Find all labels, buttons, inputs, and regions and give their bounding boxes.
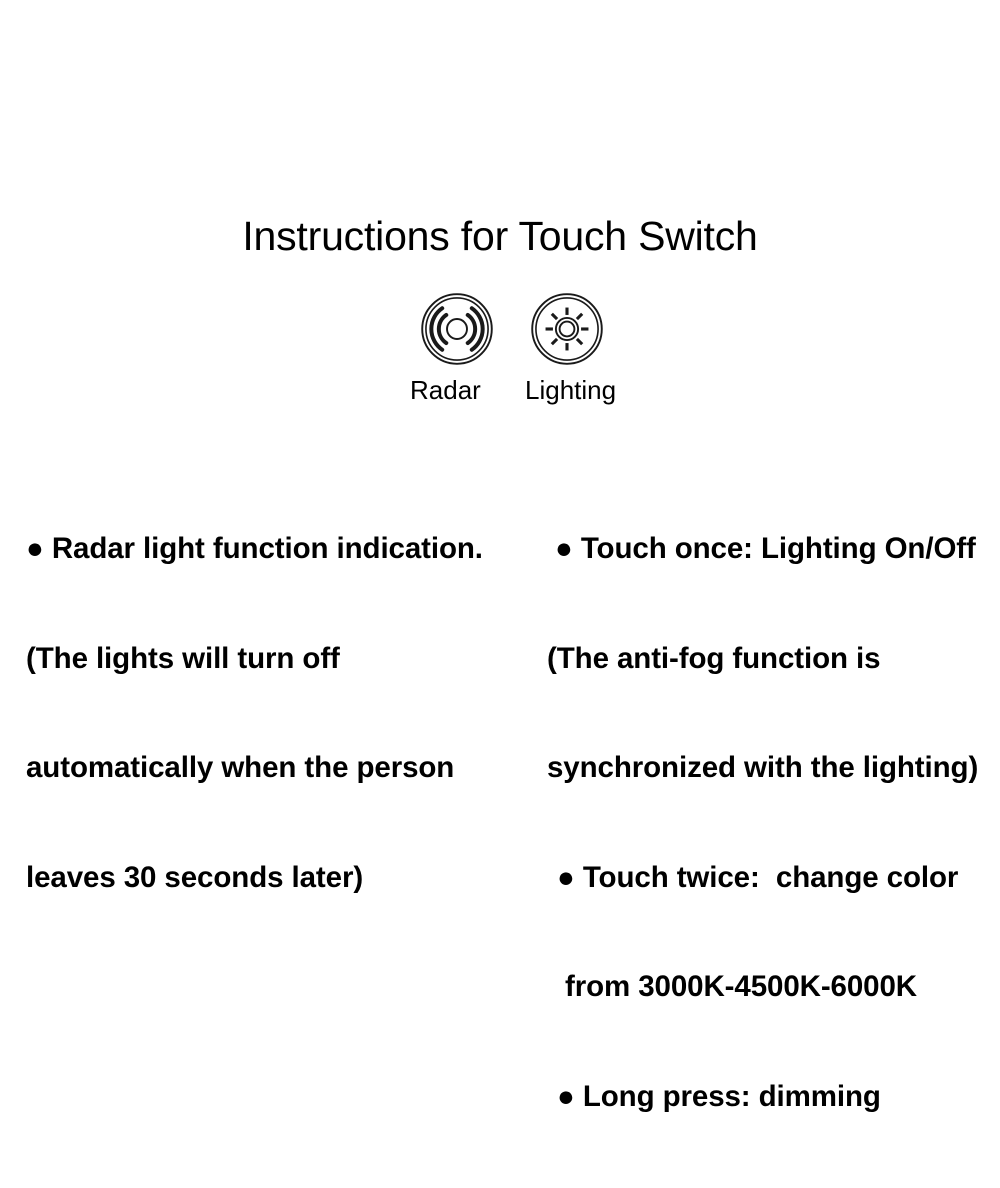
radar-icon — [420, 292, 494, 366]
instruction-line: ● Touch once: Lighting On/Off — [547, 531, 987, 568]
lighting-instructions-block: ● Touch once: Lighting On/Off (The anti-… — [547, 458, 987, 1188]
lighting-icon-label: Lighting — [525, 376, 616, 406]
instruction-line: (The lights will turn off — [26, 641, 526, 678]
page-title: Instructions for Touch Switch — [0, 214, 1000, 259]
instruction-line: ● Touch twice: change color — [547, 860, 987, 897]
instruction-sheet: Instructions for Touch Switch — [0, 0, 1000, 1000]
radar-instructions-block: ● Radar light function indication. (The … — [26, 458, 526, 969]
instruction-line: synchronized with the lighting) — [547, 750, 987, 787]
icon-labels: Radar Lighting — [380, 376, 640, 410]
lighting-icon — [530, 292, 604, 366]
instruction-line: automatically when the person — [26, 750, 526, 787]
radar-icon-label: Radar — [410, 376, 481, 406]
instruction-line: leaves 30 seconds later) — [26, 860, 526, 897]
instruction-line: from 3000K-4500K-6000K — [547, 969, 987, 1006]
instruction-line: (The anti-fog function is — [547, 641, 987, 678]
icon-row — [406, 292, 616, 370]
instruction-line: ● Radar light function indication. — [26, 531, 526, 568]
instruction-line: ● Long press: dimming — [547, 1079, 987, 1116]
